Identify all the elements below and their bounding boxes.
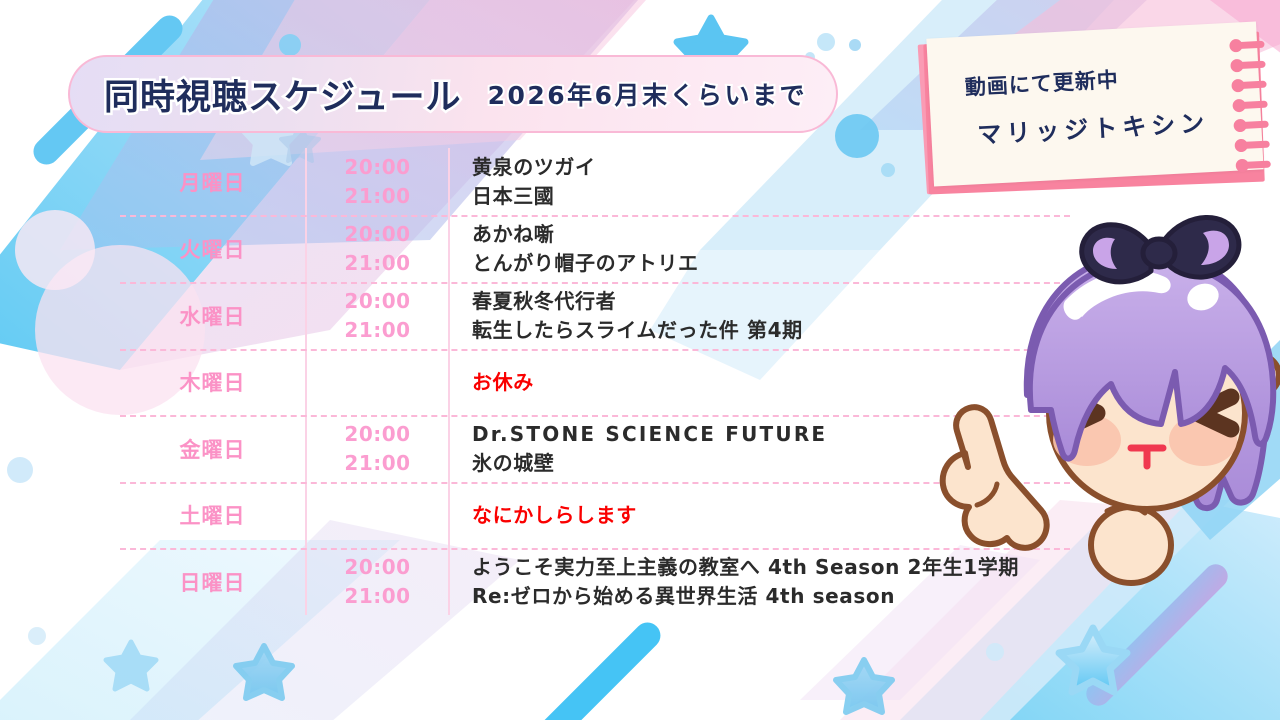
day-label: 土曜日 bbox=[120, 500, 305, 530]
time-cell: 20:0021:00 bbox=[305, 148, 450, 215]
page-title: 同時視聴スケジュール bbox=[104, 69, 462, 120]
spiral-ring bbox=[1241, 161, 1271, 170]
time-value: 21:00 bbox=[307, 249, 448, 277]
header-banner: 同時視聴スケジュール 2026年6月末くらいまで bbox=[68, 55, 838, 133]
time-value: 21:00 bbox=[307, 182, 448, 210]
day-label: 火曜日 bbox=[120, 234, 305, 264]
spiral-ring bbox=[1237, 101, 1267, 110]
schedule-row: 土曜日なにかしらします bbox=[120, 482, 1070, 548]
spiral-ring bbox=[1239, 121, 1269, 130]
schedule-row: 木曜日お休み bbox=[120, 349, 1070, 415]
fist-hand-icon bbox=[1091, 506, 1171, 583]
day-label: 水曜日 bbox=[120, 301, 305, 331]
time-cell: 20:0021:00 bbox=[305, 415, 450, 482]
day-label: 金曜日 bbox=[120, 434, 305, 464]
time-cell bbox=[305, 482, 450, 548]
spiral-ring bbox=[1235, 61, 1265, 70]
day-label: 木曜日 bbox=[120, 367, 305, 397]
row-divider bbox=[120, 282, 1070, 284]
row-divider bbox=[120, 215, 1070, 217]
schedule-table: 月曜日20:0021:00黄泉のツガイ日本三國火曜日20:0021:00あかね噺… bbox=[120, 148, 1070, 615]
time-value: 20:00 bbox=[307, 287, 448, 315]
time-value: 20:00 bbox=[307, 220, 448, 248]
note-card-paper: 動画にて更新中 マリッジトキシン bbox=[926, 21, 1263, 186]
time-value: 20:00 bbox=[307, 553, 448, 581]
day-label: 月曜日 bbox=[120, 167, 305, 197]
time-value: 20:00 bbox=[307, 153, 448, 181]
row-divider bbox=[120, 349, 1070, 351]
time-value: 21:00 bbox=[307, 316, 448, 344]
time-cell: 20:0021:00 bbox=[305, 215, 450, 282]
schedule-row: 水曜日20:0021:00春夏秋冬代行者転生したらスライムだった件 第4期 bbox=[120, 282, 1070, 349]
chibi-mascot-illustration bbox=[935, 205, 1280, 625]
pointing-hand-icon bbox=[943, 407, 1047, 548]
note-card: 動画にて更新中 マリッジトキシン bbox=[920, 28, 1270, 193]
spiral-ring bbox=[1234, 41, 1264, 50]
row-divider bbox=[120, 415, 1070, 417]
schedule-row: 金曜日20:0021:00Dr.STONE SCIENCE FUTURE氷の城壁 bbox=[120, 415, 1070, 482]
spiral-ring bbox=[1240, 141, 1270, 150]
time-value: 21:00 bbox=[307, 582, 448, 610]
schedule-row: 日曜日20:0021:00ようこそ実力至上主義の教室へ 4th Season 2… bbox=[120, 548, 1070, 615]
page-subtitle: 2026年6月末くらいまで bbox=[488, 76, 807, 112]
time-value: 20:00 bbox=[307, 420, 448, 448]
time-cell: 20:0021:00 bbox=[305, 548, 450, 615]
time-value: 21:00 bbox=[307, 449, 448, 477]
time-cell: 20:0021:00 bbox=[305, 282, 450, 349]
row-divider bbox=[120, 548, 1070, 550]
spiral-binding bbox=[1214, 39, 1268, 186]
schedule-row: 火曜日20:0021:00あかね噺とんがり帽子のアトリエ bbox=[120, 215, 1070, 282]
spiral-ring bbox=[1236, 81, 1266, 90]
day-label: 日曜日 bbox=[120, 567, 305, 597]
row-divider bbox=[120, 482, 1070, 484]
mascot-svg bbox=[935, 205, 1280, 625]
time-cell bbox=[305, 349, 450, 415]
